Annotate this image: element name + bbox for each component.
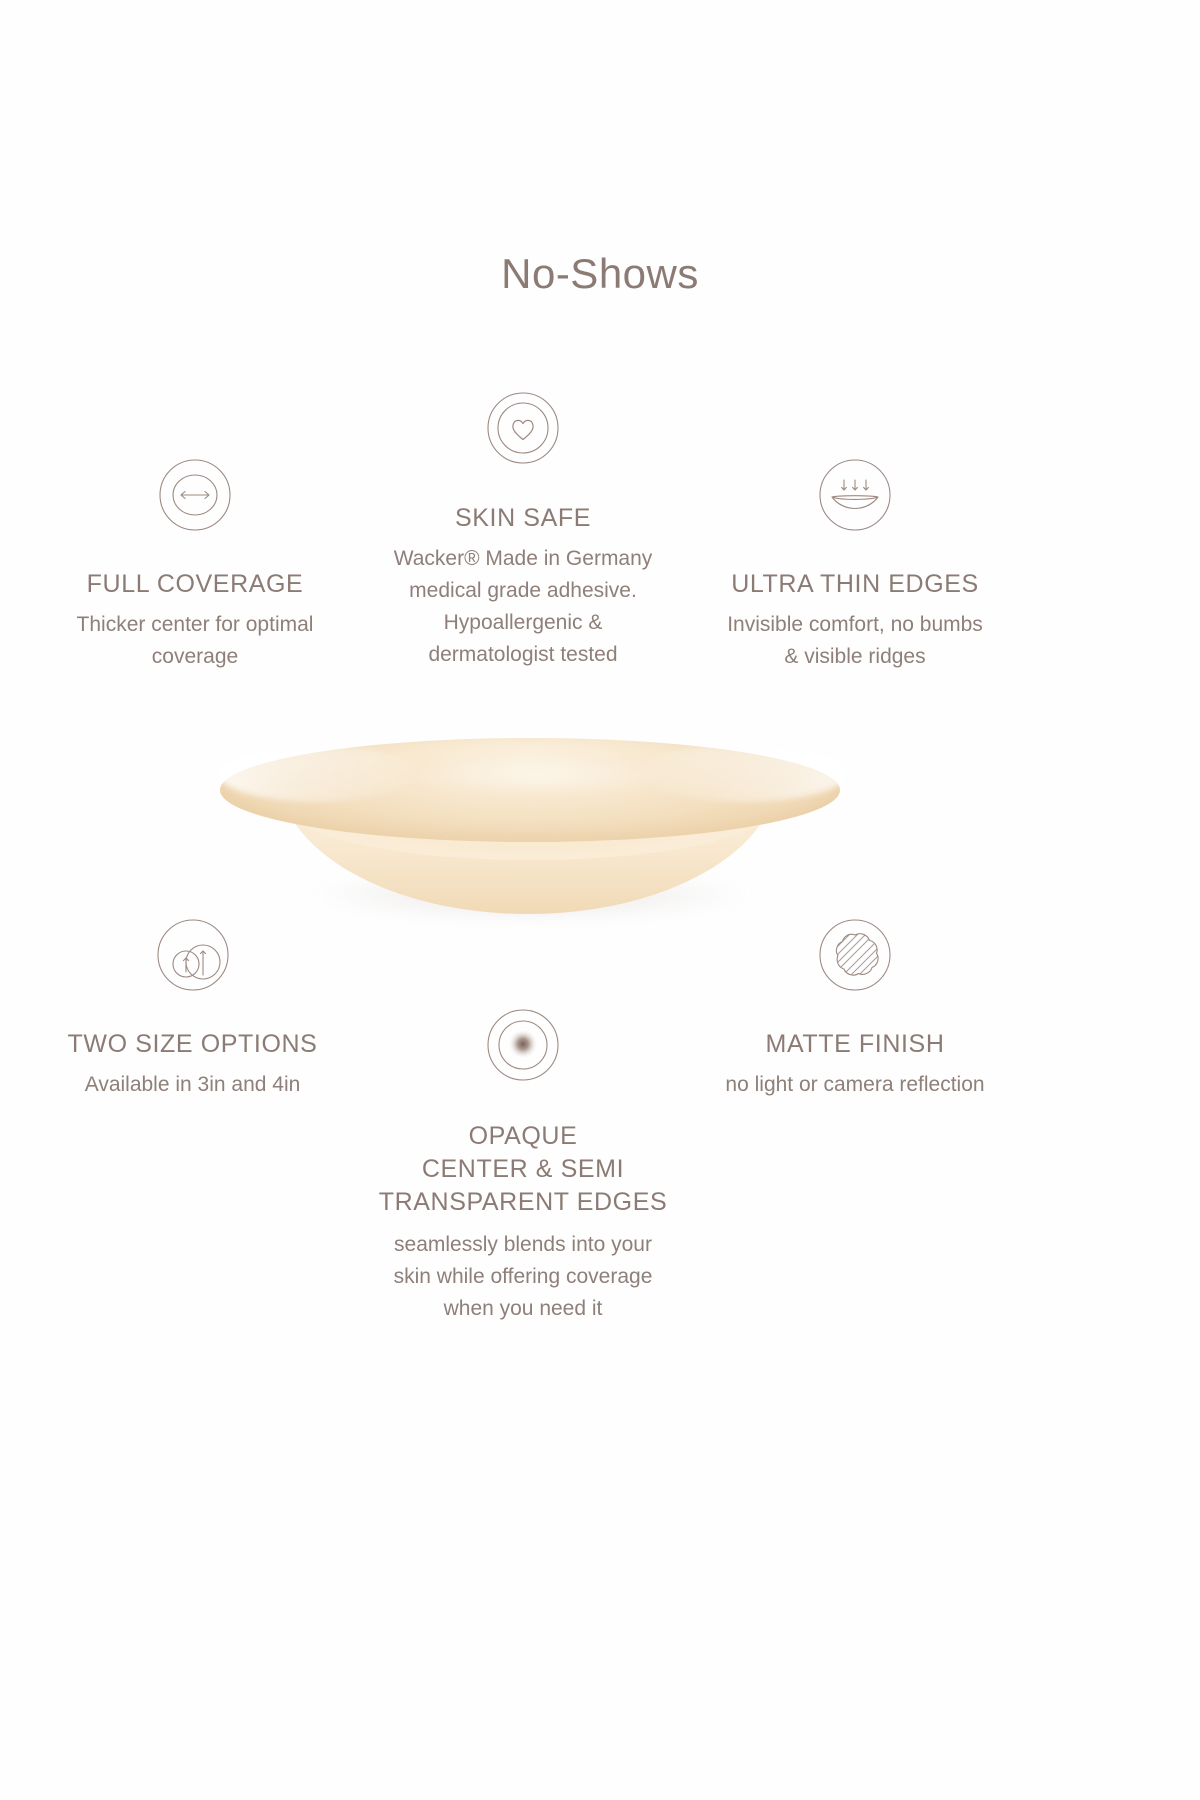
- feature-description: Invisible comfort, no bumbs & visible ri…: [690, 609, 1020, 673]
- circle-horizontal-arrow-icon: [30, 452, 360, 538]
- feature-description: seamlessly blends into your skin while o…: [358, 1229, 688, 1325]
- product-image-silicone-cover: [190, 690, 870, 950]
- feature-description: Wacker® Made in Germany medical grade ad…: [358, 543, 688, 671]
- product-rim-highlight-left: [218, 746, 418, 802]
- feature-full-coverage: FULL COVERAGE Thicker center for optimal…: [30, 452, 360, 673]
- feature-opaque-center: OPAQUE CENTER & SEMI TRANSPARENT EDGES s…: [358, 1002, 688, 1325]
- circle-down-arrows-lens-icon: [690, 452, 1020, 538]
- circle-hatched-blob-icon: [690, 912, 1020, 998]
- circle-heart-icon: [358, 385, 688, 471]
- feature-description: no light or camera reflection: [690, 1069, 1020, 1101]
- product-highlight: [400, 756, 680, 796]
- page-title: No-Shows: [0, 250, 1200, 298]
- feature-matte-finish: MATTE FINISH no light or camera reflecti…: [690, 912, 1020, 1101]
- circle-blurred-dot-icon: [358, 1002, 688, 1088]
- feature-title: MATTE FINISH: [690, 1028, 1020, 1061]
- feature-description: Thicker center for optimal coverage: [30, 609, 360, 673]
- feature-title: TWO SIZE OPTIONS: [25, 1028, 360, 1061]
- feature-ultra-thin-edges: ULTRA THIN EDGES Invisible comfort, no b…: [690, 452, 1020, 673]
- feature-description: Available in 3in and 4in: [25, 1069, 360, 1101]
- feature-title: FULL COVERAGE: [30, 568, 360, 601]
- feature-title: SKIN SAFE: [358, 502, 688, 535]
- feature-title: ULTRA THIN EDGES: [690, 568, 1020, 601]
- two-circles-up-arrows-icon: [25, 912, 360, 998]
- feature-two-size-options: TWO SIZE OPTIONS Available in 3in and 4i…: [25, 912, 360, 1101]
- product-feature-infographic: No-Shows FULL COVERAGE Thicker center fo…: [0, 0, 1200, 1800]
- feature-title: OPAQUE CENTER & SEMI TRANSPARENT EDGES: [358, 1120, 688, 1219]
- feature-skin-safe: SKIN SAFE Wacker® Made in Germany medica…: [358, 385, 688, 671]
